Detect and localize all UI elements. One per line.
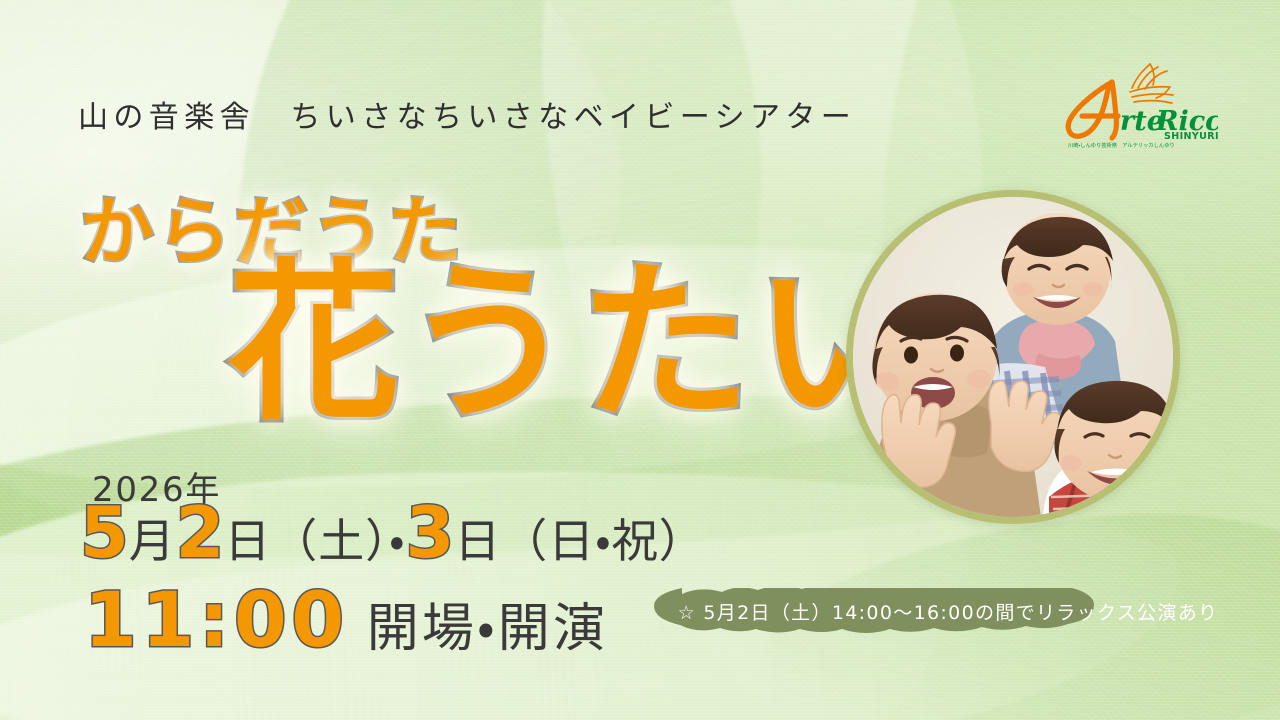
time-label: 開場・開演 [367, 599, 608, 659]
date-month-number: 5 [80, 492, 129, 574]
header-series-title: 山の音楽舎 ちいさなちいさなベイビーシアター [78, 92, 856, 136]
date-day1-label: 日（土）・ [224, 514, 405, 568]
poster-canvas: 山の音楽舎 ちいさなちいさなベイビーシアター rte R [0, 0, 1280, 720]
relax-performance-banner: ☆ 5月2日（土）14:00〜16:00の間でリラックス公演あり [648, 588, 1248, 634]
date-day2-label: 日（日・祝） [454, 514, 705, 568]
event-date: 5月2日（土）・3日（日・祝） [80, 498, 706, 568]
date-month-label: 月 [129, 514, 176, 568]
event-time: 11:00開場・開演 [84, 582, 608, 658]
svg-text:SHINYURI: SHINYURI [1164, 131, 1218, 142]
babies-photo [846, 190, 1180, 524]
time-number: 11:00 [84, 575, 349, 664]
date-day2-number: 3 [406, 492, 455, 574]
relax-banner-text: ☆ 5月2日（土）14:00〜16:00の間でリラックス公演あり [648, 588, 1248, 634]
date-day1-number: 2 [176, 492, 225, 574]
main-title-hanautai: 花うたい [228, 258, 930, 430]
arte-ricca-logo: rte Ricca SHINYURI 川崎・しんゆり芸術祭 アルテリッカしんゆり [1046, 58, 1218, 150]
logo-fineprint: 川崎・しんゆり芸術祭 アルテリッカしんゆり [1068, 142, 1175, 149]
